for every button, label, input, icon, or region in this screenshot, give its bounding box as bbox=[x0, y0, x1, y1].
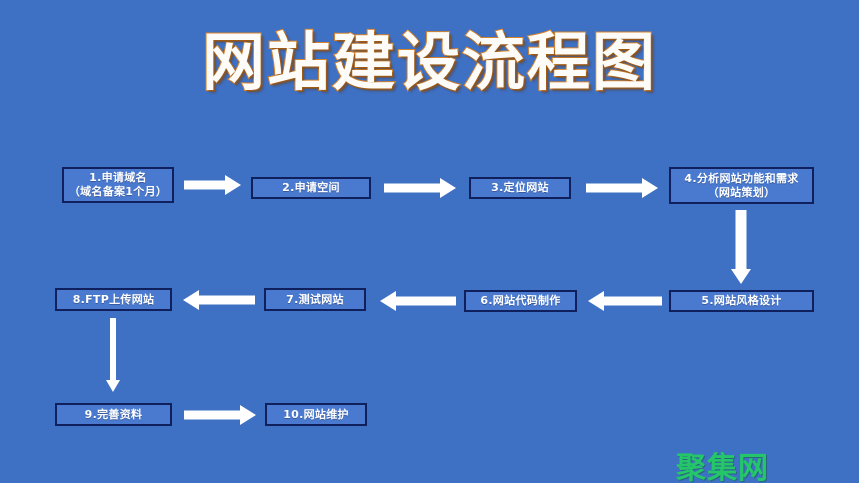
page-title: 网站建设流程图 bbox=[0, 24, 859, 100]
arrow-head bbox=[731, 269, 751, 284]
arrow-head bbox=[183, 290, 199, 310]
arrow-shaft bbox=[736, 210, 747, 272]
arrow-head bbox=[642, 178, 658, 198]
arrow-9-to-10 bbox=[184, 405, 256, 425]
arrow-head bbox=[240, 405, 256, 425]
arrow-8-to-9 bbox=[104, 318, 122, 392]
arrow-7-to-8 bbox=[183, 290, 255, 310]
arrow-shaft bbox=[602, 297, 662, 306]
flow-node-9[interactable]: 9.完善资料 bbox=[55, 403, 172, 426]
arrow-4-to-5 bbox=[728, 210, 754, 284]
arrow-shaft bbox=[197, 296, 255, 305]
arrow-head bbox=[106, 380, 120, 392]
arrow-shaft bbox=[384, 184, 442, 193]
flow-node-3[interactable]: 3.定位网站 bbox=[469, 177, 571, 199]
arrow-shaft bbox=[394, 297, 456, 306]
arrow-shaft bbox=[184, 411, 242, 420]
arrow-head bbox=[225, 175, 241, 195]
flow-node-4[interactable]: 4.分析网站功能和需求 （网站策划） bbox=[669, 167, 814, 204]
flow-node-1[interactable]: 1.申请域名 （域名备案1个月） bbox=[62, 167, 174, 203]
flowchart-canvas: 网站建设流程图 1.申请域名 （域名备案1个月） 2.申请空间 3.定位网站 4… bbox=[0, 0, 859, 483]
arrow-head bbox=[588, 291, 604, 311]
arrow-5-to-6 bbox=[588, 291, 662, 311]
arrow-1-to-2 bbox=[184, 175, 241, 195]
flow-node-2[interactable]: 2.申请空间 bbox=[251, 177, 371, 199]
flow-node-5[interactable]: 5.网站风格设计 bbox=[669, 290, 814, 312]
arrow-head bbox=[380, 291, 396, 311]
arrow-shaft bbox=[110, 318, 116, 382]
watermark-logo: 聚集网 bbox=[676, 443, 769, 483]
flow-node-7[interactable]: 7.测试网站 bbox=[264, 288, 366, 311]
arrow-6-to-7 bbox=[380, 291, 456, 311]
arrow-shaft bbox=[184, 181, 227, 190]
arrow-3-to-4 bbox=[586, 178, 658, 198]
flow-node-8[interactable]: 8.FTP上传网站 bbox=[55, 288, 172, 311]
flow-node-6[interactable]: 6.网站代码制作 bbox=[464, 290, 577, 312]
arrow-shaft bbox=[586, 184, 644, 193]
flow-node-10[interactable]: 10.网站维护 bbox=[265, 403, 367, 426]
arrow-head bbox=[440, 178, 456, 198]
arrow-2-to-3 bbox=[384, 178, 456, 198]
